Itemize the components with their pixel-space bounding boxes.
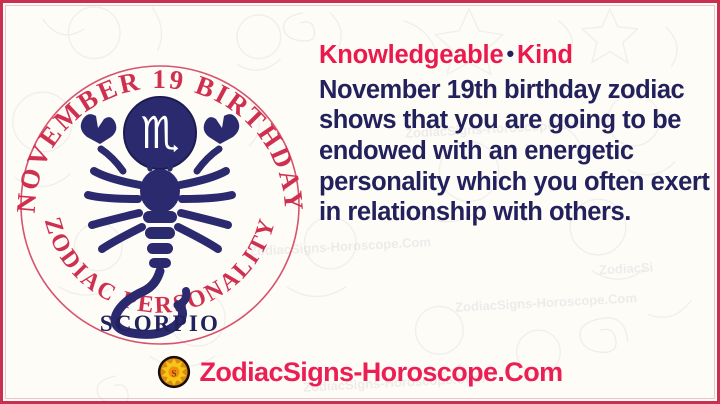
svg-text:S: S (172, 369, 177, 379)
scorpio-glyph-icon: ♏ (140, 108, 179, 159)
headline: Knowledgeable•Kind (319, 41, 711, 70)
site-name: ZodiacSigns-Horoscope.Com (199, 357, 562, 388)
headline-trait-right: Kind (517, 41, 573, 69)
headline-separator: • (503, 41, 517, 66)
site-footer: S ZodiacSigns-Horoscope.Com (3, 351, 717, 393)
body-paragraph: November 19th birthday zodiac shows that… (319, 75, 711, 229)
zodiac-badge: NOVEMBER 19 BIRTHDAY ZODIAC PERSONALITY … (9, 45, 311, 353)
sun-logo-icon: S (157, 355, 191, 389)
badge-sign-label: SCORPIO (100, 311, 220, 336)
headline-trait-left: Knowledgeable (319, 41, 503, 69)
text-panel: Knowledgeable•Kind November 19th birthda… (319, 41, 711, 228)
birthday-zodiac-card: ZodiacSigns-Horoscope.ComZodiacSigns-Hor… (0, 0, 720, 404)
